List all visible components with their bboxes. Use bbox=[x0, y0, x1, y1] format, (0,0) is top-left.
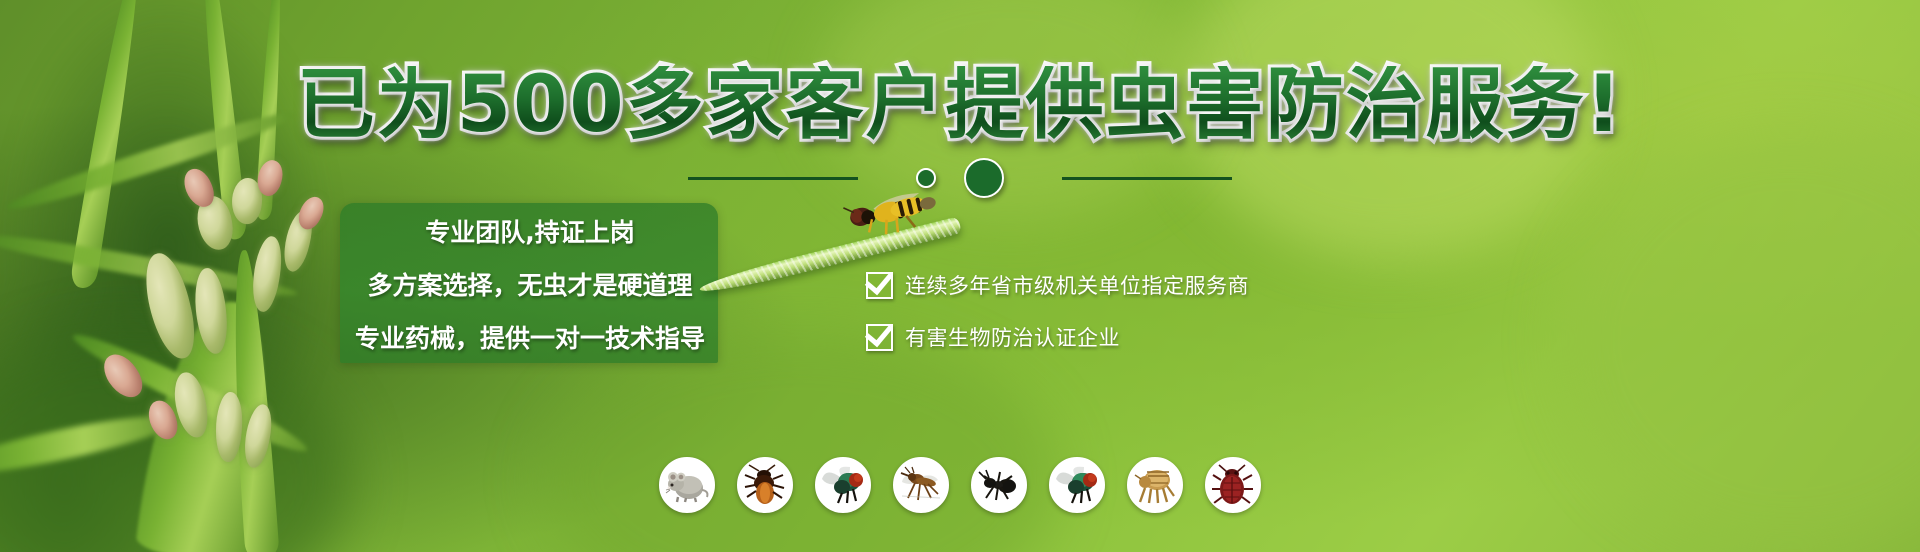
check-label: 有害生物防治认证企业 bbox=[905, 322, 1120, 352]
divider-dot-large bbox=[964, 158, 1004, 198]
pest-control-banner: 已为500多家客户提供虫害防治服务! 已为500多家客户提供虫害防治服务! bbox=[0, 0, 1920, 552]
blowfly-icon[interactable] bbox=[1049, 457, 1105, 513]
bedbug-icon[interactable] bbox=[1205, 457, 1261, 513]
info-line-2: 多方案选择，无虫才是硬道理 bbox=[367, 266, 692, 302]
info-line-3: 专业药械，提供一对一技术指导 bbox=[355, 319, 705, 355]
mosquito-icon[interactable] bbox=[893, 457, 949, 513]
flea-icon[interactable] bbox=[1127, 457, 1183, 513]
checkmark-icon bbox=[866, 272, 893, 299]
bokeh-blob bbox=[540, 330, 1060, 552]
divider-line-left bbox=[688, 177, 858, 180]
check-label: 连续多年省市级机关单位指定服务商 bbox=[905, 270, 1249, 300]
checkmark-icon bbox=[866, 324, 893, 351]
page-title: 已为500多家客户提供虫害防治服务! bbox=[0, 66, 1920, 144]
ant-icon[interactable] bbox=[971, 457, 1027, 513]
info-box-text: 专业团队,持证上岗 多方案选择，无虫才是硬道理 专业药械，提供一对一技术指导 bbox=[335, 205, 725, 363]
info-line-1: 专业团队,持证上岗 bbox=[425, 213, 635, 249]
divider-line-right bbox=[1062, 177, 1232, 180]
certification-list: 连续多年省市级机关单位指定服务商 有害生物防治认证企业 bbox=[866, 270, 1249, 352]
pest-icon-row bbox=[0, 457, 1920, 513]
list-item: 连续多年省市级机关单位指定服务商 bbox=[866, 270, 1249, 300]
fly-icon[interactable] bbox=[815, 457, 871, 513]
decorative-divider bbox=[0, 160, 1920, 196]
list-item: 有害生物防治认证企业 bbox=[866, 322, 1249, 352]
mouse-icon[interactable] bbox=[659, 457, 715, 513]
cockroach-icon[interactable] bbox=[737, 457, 793, 513]
